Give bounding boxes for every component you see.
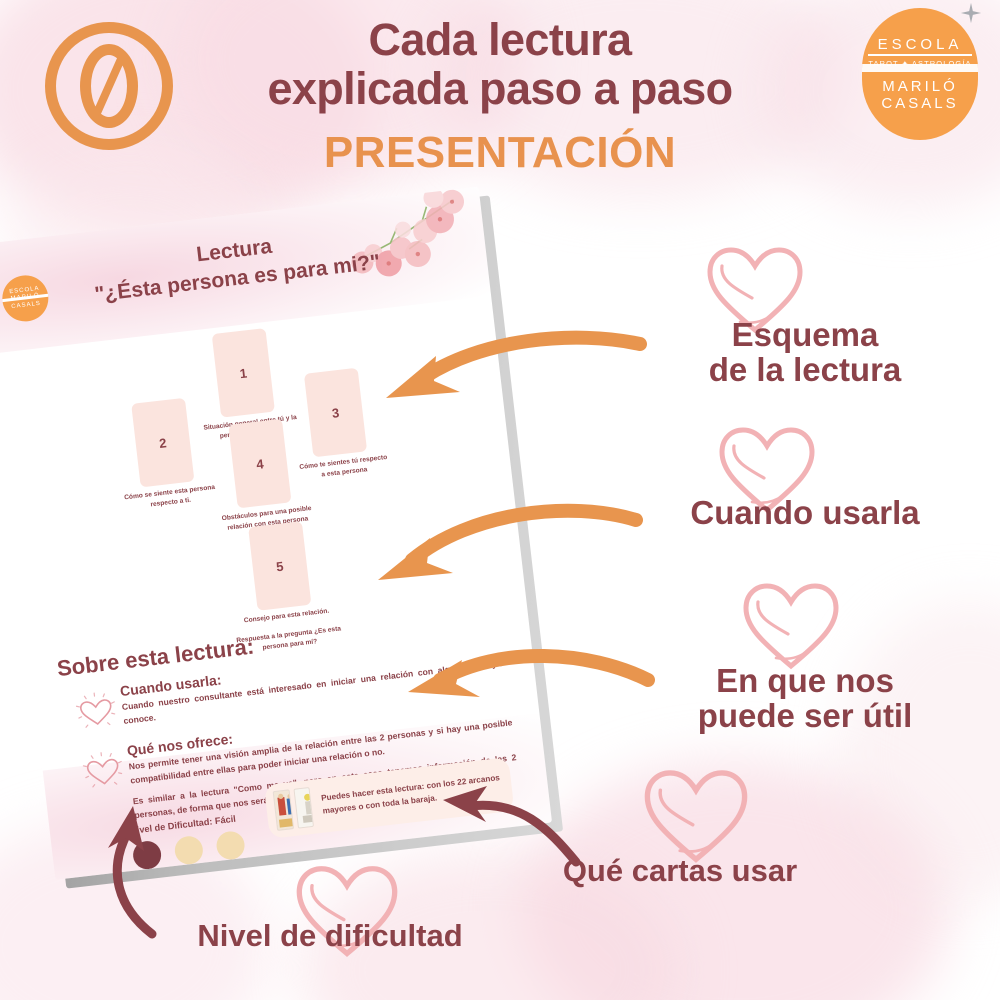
lesson-sheet-preview[interactable]: ESCOLA MARILÓ CASALS xyxy=(0,184,574,899)
logo-name-line2: CASALS xyxy=(881,95,958,112)
sheet-page: ESCOLA MARILÓ CASALS xyxy=(0,187,552,880)
spread-caption-2: Cómo se siente esta persona respecto a t… xyxy=(123,483,217,513)
which-cards-text: Puedes hacer esta lectura: con los 22 ar… xyxy=(321,772,505,818)
annotation-line: Cuando usarla xyxy=(630,496,980,531)
tarot-card-thumbnail xyxy=(293,787,314,829)
spread-card-5: 5 xyxy=(248,521,311,611)
logo-band xyxy=(862,64,978,72)
annotation-esquema-de-la-lectura: Esquema de la lectura xyxy=(640,318,970,388)
tarot-card-thumbnail xyxy=(273,789,294,831)
spread-card-3: 3 xyxy=(304,368,367,458)
spread-card-4: 4 xyxy=(228,419,291,509)
slashed-zero-icon xyxy=(80,44,138,128)
annotation-cuando-usarla: Cuando usarla xyxy=(630,496,980,531)
title-line-1: Cada lectura xyxy=(170,16,830,65)
annotation-que-cartas-usar: Qué cartas usar xyxy=(500,855,860,888)
heart-decoration-icon xyxy=(736,574,846,674)
heart-decoration-icon xyxy=(636,760,756,868)
heart-bullet-icon xyxy=(79,747,128,796)
logo-name-line1: MARILÓ xyxy=(882,78,958,95)
star-icon xyxy=(960,2,982,24)
page-subtitle: PRESENTACIÓN xyxy=(170,128,830,178)
title-line-2: explicada paso a paso xyxy=(170,65,830,114)
page-title: Cada lectura explicada paso a paso xyxy=(170,16,830,113)
brand-logo: ESCOLA TAROT ✦ ASTROLOGÍA MARILÓ CASALS xyxy=(862,8,978,140)
annotation-nivel-de-dificultad: Nivel de dificultad xyxy=(130,920,530,953)
step-number-badge xyxy=(45,22,173,150)
heart-bullet-icon xyxy=(72,688,121,737)
annotation-line: Esquema de la lectura xyxy=(640,318,970,388)
poster-canvas: Cada lectura explicada paso a paso PRESE… xyxy=(0,0,1000,1000)
card-spread-diagram: 1 Situación general entre tú y la person… xyxy=(0,286,527,661)
poster-header: Cada lectura explicada paso a paso PRESE… xyxy=(0,0,1000,200)
difficulty-dot-empty xyxy=(215,830,246,861)
annotation-line: Qué cartas usar xyxy=(500,855,860,888)
difficulty-dot-filled xyxy=(132,840,163,871)
spread-card-2: 2 xyxy=(131,398,194,488)
logo-school-label: ESCOLA xyxy=(878,36,963,53)
annotation-line: Nivel de dificultad xyxy=(130,920,530,953)
spread-card-1: 1 xyxy=(212,328,275,418)
annotation-line: En que nos puede ser útil xyxy=(640,664,970,734)
difficulty-dot-empty xyxy=(173,835,204,866)
spread-caption-3: Cómo te sientes tú respecto a esta perso… xyxy=(297,453,391,483)
annotation-en-que-nos-puede-ser-util: En que nos puede ser útil xyxy=(640,664,970,734)
